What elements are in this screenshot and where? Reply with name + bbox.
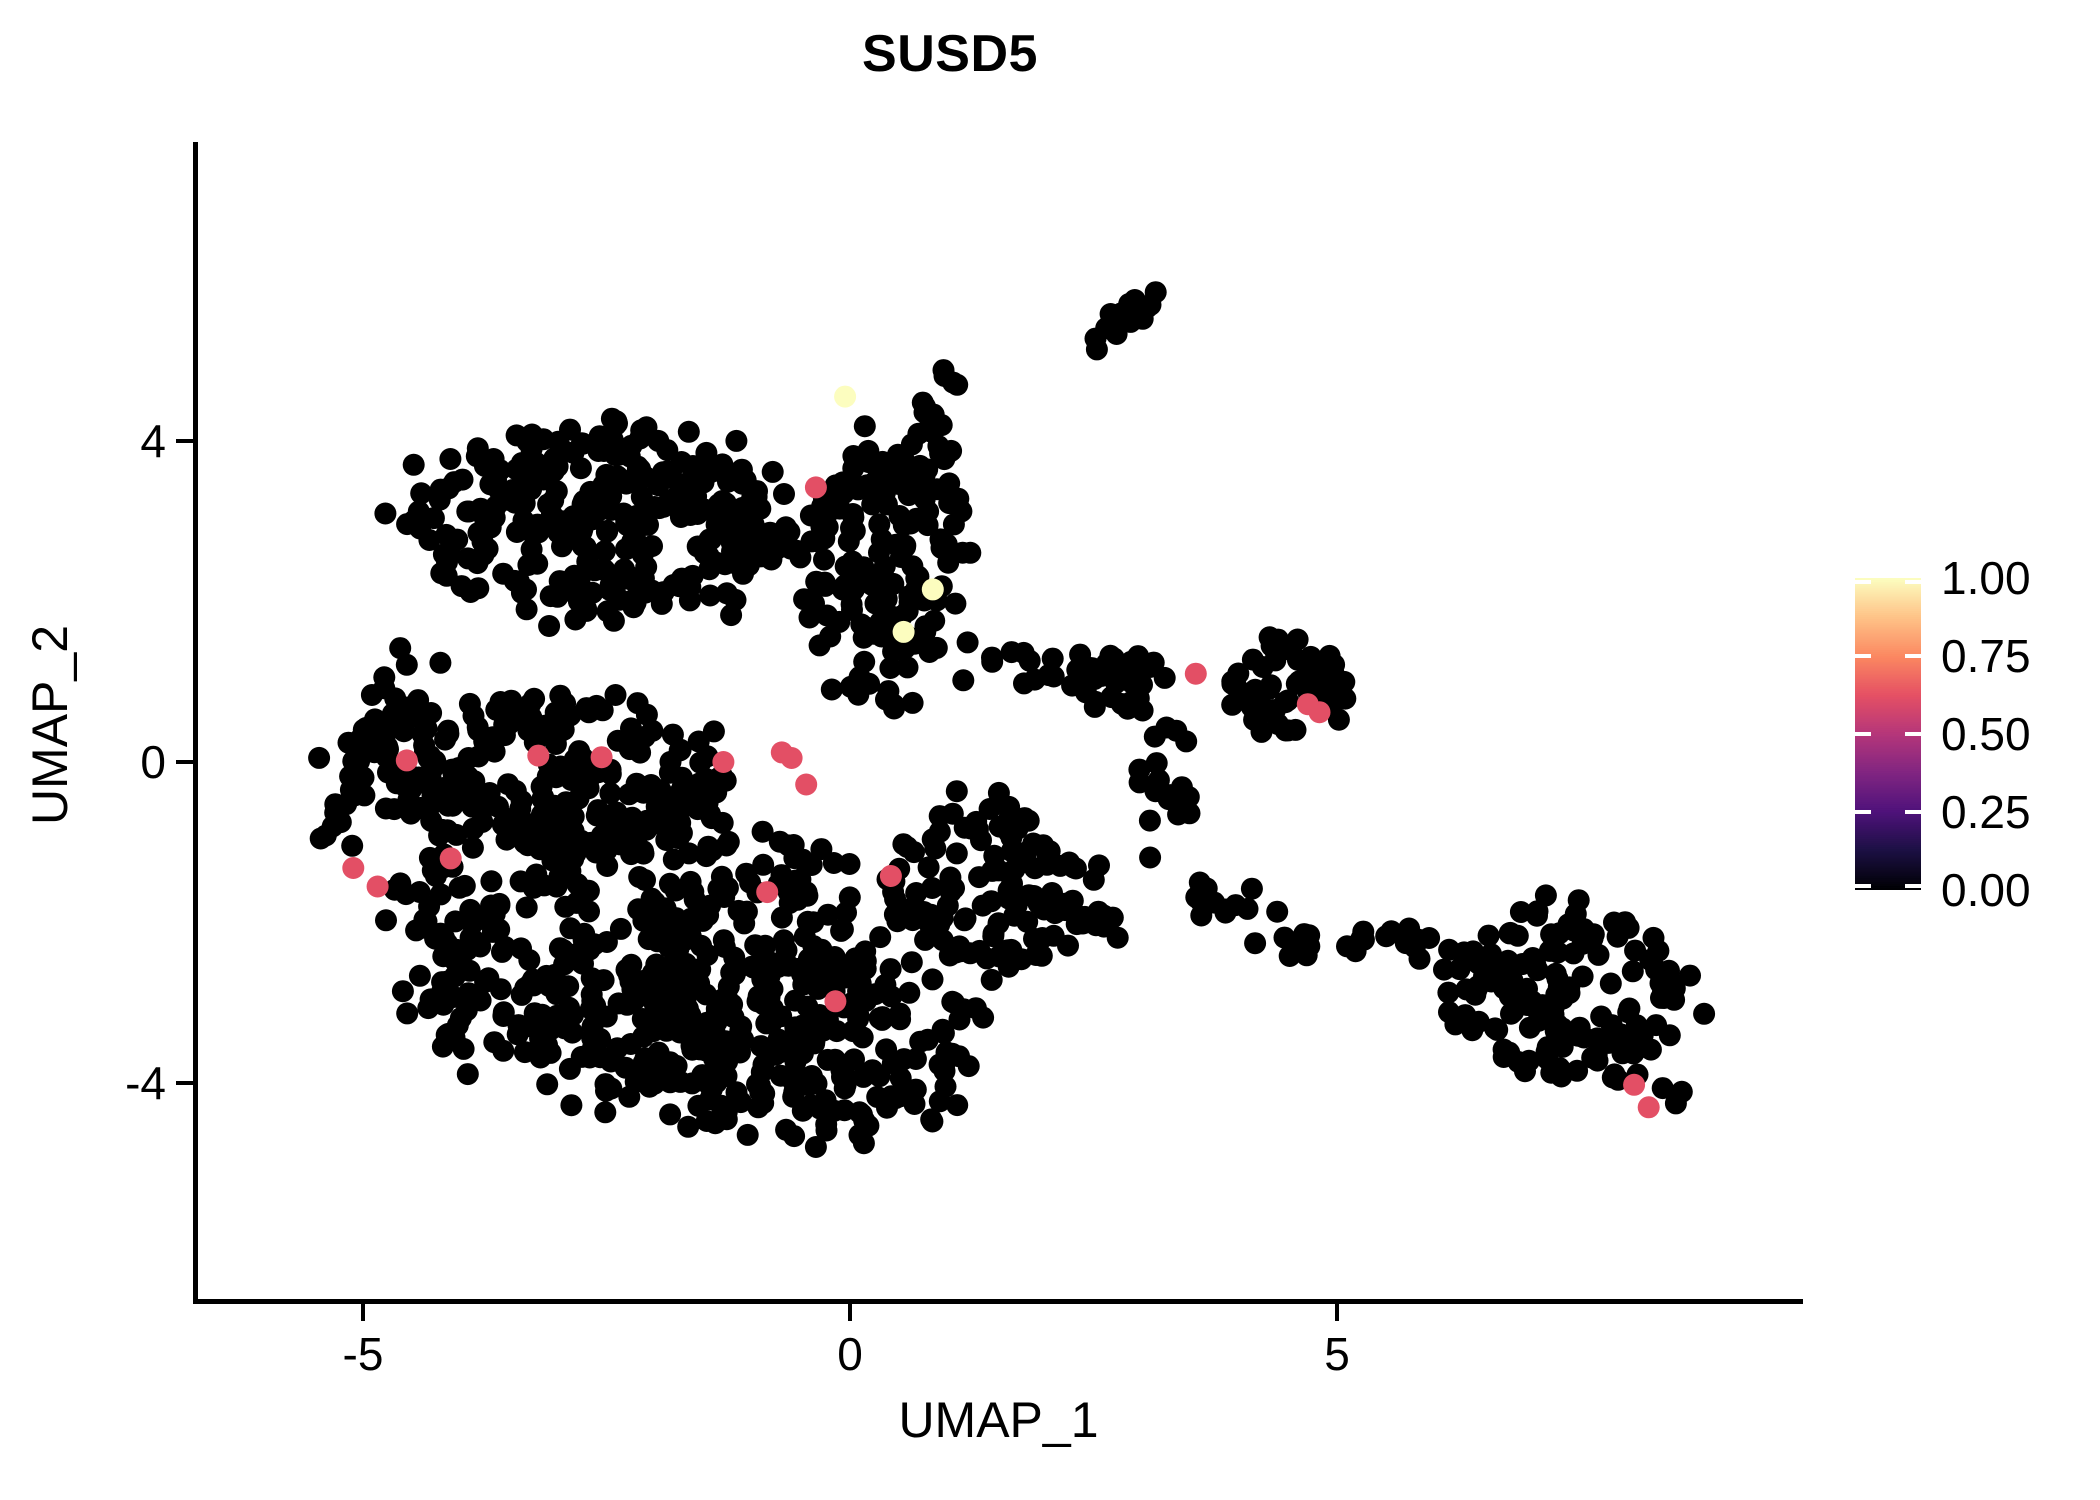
data-point xyxy=(836,1067,858,1089)
data-point xyxy=(813,1019,835,1041)
data-point xyxy=(639,1076,661,1098)
data-point xyxy=(455,937,477,959)
colorbar-tick-label: 0.50 xyxy=(1941,711,2031,757)
data-point xyxy=(436,565,458,587)
data-point xyxy=(671,451,693,473)
data-point xyxy=(855,958,877,980)
data-point xyxy=(1266,901,1288,923)
data-point xyxy=(537,493,559,515)
feature-plot-figure: SUSD5 40-4-505 UMAP_1 UMAP_2 1.000.750.5… xyxy=(0,0,2100,1500)
data-point xyxy=(1643,927,1665,949)
data-point xyxy=(341,835,363,857)
data-point xyxy=(887,900,909,922)
data-point xyxy=(518,949,540,971)
data-point xyxy=(946,780,968,802)
data-point xyxy=(1033,899,1055,921)
data-point xyxy=(1140,294,1162,316)
data-point xyxy=(689,752,711,774)
data-point xyxy=(630,419,652,441)
data-point xyxy=(697,904,719,926)
data-point xyxy=(605,410,627,432)
data-point xyxy=(1614,917,1636,939)
data-point xyxy=(934,365,956,387)
data-point xyxy=(530,1047,552,1069)
data-point xyxy=(931,537,953,559)
data-point xyxy=(1507,925,1529,947)
data-point xyxy=(1524,953,1546,975)
data-point xyxy=(383,798,405,820)
data-point xyxy=(917,514,939,536)
data-point xyxy=(715,492,737,514)
data-point xyxy=(711,866,733,888)
data-point xyxy=(998,940,1020,962)
data-point xyxy=(946,842,968,864)
data-point xyxy=(988,859,1010,881)
data-point xyxy=(842,1020,864,1042)
data-point xyxy=(1225,894,1247,916)
data-point xyxy=(632,1026,654,1048)
data-point xyxy=(1600,973,1622,995)
data-point xyxy=(876,1097,898,1119)
data-point xyxy=(524,725,546,747)
data-point xyxy=(632,840,654,862)
data-point xyxy=(517,834,539,856)
data-point xyxy=(777,1031,799,1053)
data-point xyxy=(1287,629,1309,651)
data-point-highlighted xyxy=(781,747,803,769)
data-point xyxy=(952,542,974,564)
data-point xyxy=(596,520,618,542)
data-point xyxy=(466,552,488,574)
data-point xyxy=(449,760,471,782)
data-point xyxy=(919,641,941,663)
data-point xyxy=(813,549,835,571)
data-point xyxy=(1287,649,1309,671)
data-point-highlighted xyxy=(756,881,778,903)
data-point xyxy=(618,1086,640,1108)
data-point xyxy=(875,1038,897,1060)
data-point xyxy=(639,498,661,520)
data-point xyxy=(490,691,512,713)
colorbar-tick xyxy=(1905,732,1921,736)
data-point xyxy=(525,429,547,451)
data-point xyxy=(460,581,482,603)
data-point xyxy=(573,490,595,512)
data-point xyxy=(834,967,856,989)
data-point xyxy=(597,485,619,507)
data-point-highlighted xyxy=(367,876,389,898)
data-point xyxy=(452,469,474,491)
data-point xyxy=(823,852,845,874)
data-point-highlighted xyxy=(922,578,944,600)
data-point xyxy=(521,538,543,560)
data-point xyxy=(678,842,700,864)
data-point xyxy=(716,582,738,604)
colorbar-tick xyxy=(1855,810,1871,814)
data-point xyxy=(629,458,651,480)
data-point xyxy=(1267,713,1289,735)
data-point xyxy=(1129,771,1151,793)
x-axis-tick xyxy=(1335,1304,1339,1321)
data-point xyxy=(1068,913,1090,935)
data-point xyxy=(677,1116,699,1138)
data-point xyxy=(957,631,979,653)
data-point xyxy=(557,975,579,997)
data-point xyxy=(1221,694,1243,716)
data-point xyxy=(492,1040,514,1062)
x-axis-tick xyxy=(361,1304,365,1321)
data-point xyxy=(850,613,872,635)
data-point xyxy=(596,931,618,953)
data-point xyxy=(1288,670,1310,692)
data-point xyxy=(418,748,440,770)
data-point xyxy=(870,590,892,612)
data-point-highlighted xyxy=(824,990,846,1012)
data-point xyxy=(1242,692,1264,714)
data-point xyxy=(449,877,471,899)
data-point xyxy=(716,997,738,1019)
data-point xyxy=(943,513,965,535)
data-point xyxy=(389,637,411,659)
data-point xyxy=(1583,923,1605,945)
data-point xyxy=(552,939,574,961)
data-point xyxy=(629,742,651,764)
data-point xyxy=(1065,858,1087,880)
data-point xyxy=(1456,949,1478,971)
data-point xyxy=(747,936,769,958)
data-point xyxy=(998,821,1020,843)
data-point xyxy=(857,440,879,462)
data-point xyxy=(819,626,841,648)
data-point xyxy=(1057,935,1079,957)
data-point xyxy=(1468,1011,1490,1033)
data-point xyxy=(960,818,982,840)
data-point xyxy=(918,856,940,878)
data-point xyxy=(972,895,994,917)
x-axis-line xyxy=(193,1299,1803,1304)
data-point-highlighted xyxy=(1638,1096,1660,1118)
data-point xyxy=(384,687,406,709)
data-point xyxy=(403,454,425,476)
data-point xyxy=(1221,673,1243,695)
data-point xyxy=(504,492,526,514)
data-point xyxy=(417,997,439,1019)
data-point xyxy=(570,457,592,479)
data-point xyxy=(1502,1001,1524,1023)
data-point xyxy=(652,461,674,483)
colorbar-tick xyxy=(1905,654,1921,658)
x-axis-tick-label: 5 xyxy=(1237,1331,1437,1377)
data-point xyxy=(439,792,461,814)
data-point xyxy=(559,1058,581,1080)
data-point-highlighted xyxy=(591,746,613,768)
data-point xyxy=(901,433,923,455)
data-point-highlighted xyxy=(880,865,902,887)
data-point xyxy=(1624,940,1646,962)
data-point xyxy=(1610,1037,1632,1059)
data-point xyxy=(641,535,663,557)
data-point xyxy=(567,873,589,895)
data-point xyxy=(668,575,690,597)
data-point xyxy=(439,448,461,470)
data-point xyxy=(606,465,628,487)
data-point xyxy=(568,788,590,810)
data-point xyxy=(1117,300,1139,322)
data-point xyxy=(841,551,863,573)
data-point xyxy=(315,825,337,847)
data-point xyxy=(1438,1001,1460,1023)
data-point xyxy=(1409,948,1431,970)
data-point xyxy=(1154,667,1176,689)
data-point xyxy=(948,1045,970,1067)
data-point xyxy=(1546,1026,1568,1048)
data-point xyxy=(688,731,710,753)
data-point xyxy=(920,421,942,443)
data-point xyxy=(843,1048,865,1070)
data-point xyxy=(694,542,716,564)
data-point xyxy=(429,652,451,674)
data-point xyxy=(697,836,719,858)
data-point xyxy=(1260,674,1282,696)
data-point xyxy=(480,870,502,892)
data-point xyxy=(849,666,871,688)
data-point xyxy=(633,976,655,998)
data-point xyxy=(549,570,571,592)
data-point xyxy=(560,1094,582,1116)
data-point xyxy=(1350,929,1372,951)
data-point xyxy=(485,496,507,518)
data-point xyxy=(689,958,711,980)
data-point xyxy=(968,866,990,888)
data-point xyxy=(409,881,431,903)
data-point xyxy=(759,978,781,1000)
data-point xyxy=(1144,726,1166,748)
data-point xyxy=(659,873,681,895)
data-point xyxy=(394,775,416,797)
data-point xyxy=(1242,649,1264,671)
scatter-points-svg xyxy=(195,142,1802,1301)
data-point xyxy=(889,1008,911,1030)
data-point xyxy=(538,615,560,637)
data-point xyxy=(538,975,560,997)
data-point xyxy=(773,483,795,505)
x-axis-tick xyxy=(848,1304,852,1321)
data-point xyxy=(821,679,843,701)
data-point xyxy=(1296,944,1318,966)
data-point xyxy=(1024,669,1046,691)
data-point xyxy=(694,499,716,521)
colorbar-band xyxy=(1855,888,1921,890)
colorbar-tick xyxy=(1855,580,1871,584)
data-point xyxy=(692,1070,714,1092)
y-axis-tick xyxy=(176,1081,193,1085)
data-point xyxy=(453,1038,475,1060)
data-point xyxy=(660,1053,682,1075)
y-axis-tick xyxy=(176,760,193,764)
data-point xyxy=(1086,338,1108,360)
data-point xyxy=(1037,845,1059,867)
data-point xyxy=(463,705,485,727)
data-point xyxy=(922,828,944,850)
data-point xyxy=(447,1014,469,1036)
data-point xyxy=(716,1108,738,1130)
data-point xyxy=(753,1054,775,1076)
data-point xyxy=(408,501,430,523)
data-point-highlighted xyxy=(893,621,915,643)
data-point xyxy=(396,1002,418,1024)
data-point-highlighted xyxy=(342,857,364,879)
data-point xyxy=(806,1073,828,1095)
data-point xyxy=(594,1101,616,1123)
data-point xyxy=(1565,903,1587,925)
data-point xyxy=(1493,1046,1515,1068)
data-point xyxy=(511,790,533,812)
data-point xyxy=(805,1136,827,1158)
data-point xyxy=(1586,1044,1608,1066)
data-point-highlighted xyxy=(834,386,856,408)
data-point xyxy=(387,711,409,733)
data-point xyxy=(690,935,712,957)
data-point xyxy=(345,747,367,769)
data-point xyxy=(613,816,635,838)
data-point xyxy=(567,521,589,543)
data-point xyxy=(817,1049,839,1071)
data-point xyxy=(909,1031,931,1053)
data-point xyxy=(1001,641,1023,663)
data-point xyxy=(712,812,734,834)
data-point xyxy=(726,1081,748,1103)
data-point xyxy=(1478,925,1500,947)
data-point xyxy=(1072,654,1094,676)
data-point xyxy=(473,731,495,753)
data-point xyxy=(516,897,538,919)
data-point xyxy=(527,514,549,536)
data-point xyxy=(1193,887,1215,909)
data-point xyxy=(842,457,864,479)
data-point xyxy=(874,974,896,996)
data-point xyxy=(578,701,600,723)
x-axis-title: UMAP_1 xyxy=(195,1395,1802,1445)
data-point xyxy=(1264,640,1286,662)
data-point xyxy=(536,1073,558,1095)
data-point xyxy=(623,588,645,610)
data-point xyxy=(1031,945,1053,967)
page-title: SUSD5 xyxy=(0,28,2000,80)
data-point xyxy=(1622,960,1644,982)
data-point xyxy=(547,431,569,453)
data-point xyxy=(811,939,833,961)
data-point xyxy=(603,610,625,632)
data-point xyxy=(492,1005,514,1027)
data-point xyxy=(1107,927,1129,949)
data-point xyxy=(546,1005,568,1027)
data-point-highlighted xyxy=(1623,1074,1645,1096)
data-point xyxy=(932,1019,954,1041)
data-point xyxy=(717,471,739,493)
data-point xyxy=(633,1052,655,1074)
data-point xyxy=(660,751,682,773)
scatter-panel xyxy=(195,142,1802,1301)
data-point xyxy=(520,706,542,728)
data-point xyxy=(733,912,755,934)
data-point xyxy=(935,1076,957,1098)
data-point xyxy=(755,1012,777,1034)
data-point xyxy=(921,877,943,899)
data-point xyxy=(983,923,1005,945)
data-point xyxy=(753,1083,775,1105)
data-point xyxy=(914,488,936,510)
data-point xyxy=(461,796,483,818)
data-point xyxy=(902,692,924,714)
data-point xyxy=(602,429,624,451)
data-point xyxy=(937,895,959,917)
data-point xyxy=(662,724,684,746)
data-point xyxy=(823,1100,845,1122)
colorbar-tick xyxy=(1855,884,1871,888)
data-point xyxy=(339,765,361,787)
data-point xyxy=(737,1124,759,1146)
data-point xyxy=(594,559,616,581)
data-point xyxy=(1175,730,1197,752)
data-point xyxy=(1665,1092,1687,1114)
data-point xyxy=(952,669,974,691)
data-point xyxy=(1650,972,1672,994)
data-point xyxy=(675,1012,697,1034)
data-point xyxy=(490,978,512,1000)
data-point xyxy=(879,657,901,679)
data-point xyxy=(938,492,960,514)
colorbar-tick xyxy=(1855,654,1871,658)
data-point xyxy=(929,1054,951,1076)
data-point xyxy=(474,455,496,477)
data-point-highlighted xyxy=(527,745,549,767)
colorbar-tick-label: 0.00 xyxy=(1941,867,2031,913)
data-point xyxy=(726,1038,748,1060)
data-point xyxy=(857,1115,879,1137)
data-point xyxy=(1127,645,1149,667)
data-point xyxy=(1467,975,1489,997)
data-point xyxy=(1375,925,1397,947)
data-point xyxy=(375,909,397,931)
data-point xyxy=(720,604,742,626)
data-point xyxy=(636,704,658,726)
data-point-highlighted xyxy=(396,749,418,771)
data-point xyxy=(972,1007,994,1029)
y-axis-tick xyxy=(176,439,193,443)
data-point xyxy=(953,909,975,931)
data-point xyxy=(905,1079,927,1101)
data-point xyxy=(409,965,431,987)
data-point xyxy=(1139,810,1161,832)
x-axis-tick-label: -5 xyxy=(263,1331,463,1377)
data-point xyxy=(778,955,800,977)
data-point xyxy=(580,832,602,854)
data-point xyxy=(525,814,547,836)
data-point xyxy=(797,911,819,933)
data-point xyxy=(959,942,981,964)
data-point xyxy=(636,816,658,838)
data-point xyxy=(1099,645,1121,667)
data-point xyxy=(888,473,910,495)
data-point xyxy=(762,461,784,483)
data-point-highlighted xyxy=(440,847,462,869)
data-point xyxy=(627,898,649,920)
data-point xyxy=(877,680,899,702)
data-point xyxy=(854,415,876,437)
data-point xyxy=(938,472,960,494)
data-point xyxy=(726,959,748,981)
data-point xyxy=(616,994,638,1016)
